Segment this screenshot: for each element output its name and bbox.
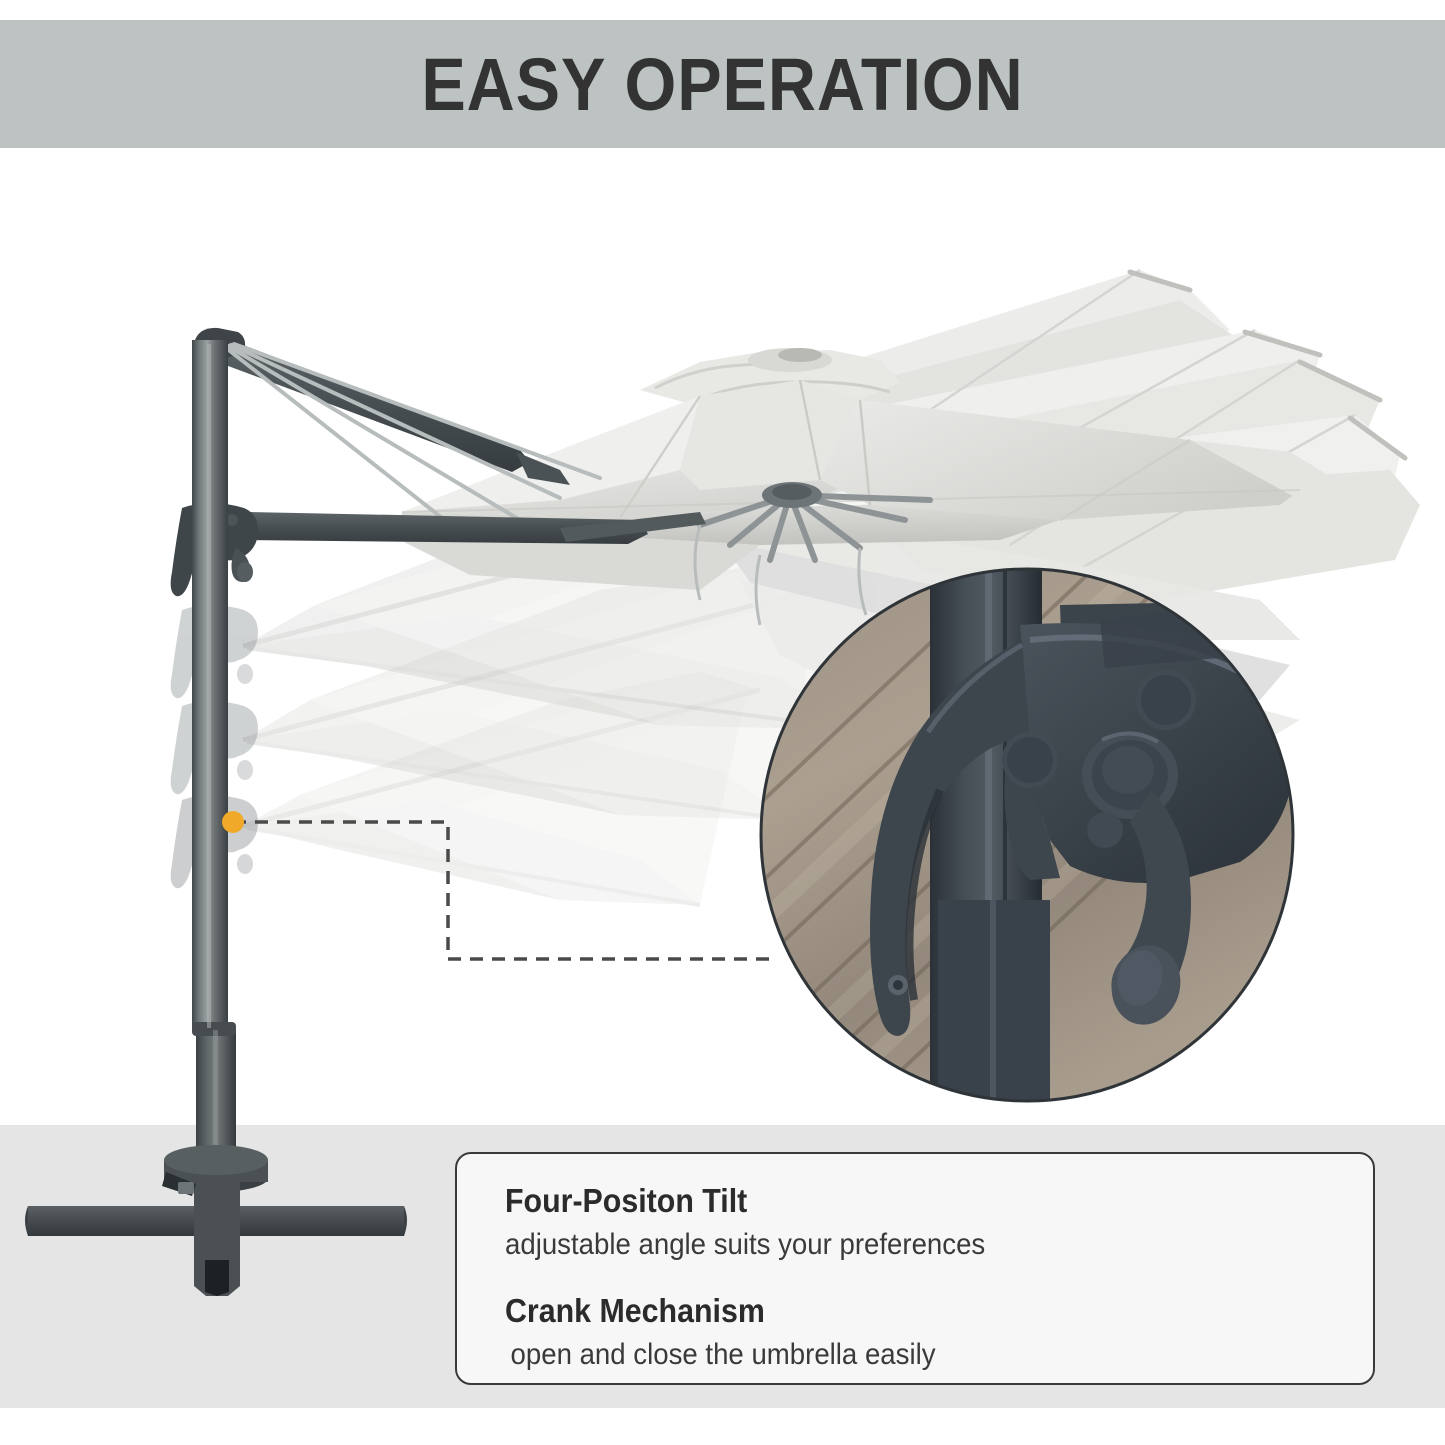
- feature-text-card: Four-Positon Tilt adjustable angle suits…: [455, 1152, 1375, 1385]
- page-title: EASY OPERATION: [72, 20, 1373, 148]
- callout-marker-dot: [222, 811, 244, 833]
- ghost-tilt-handle-2: [171, 605, 258, 698]
- feature-title-tilt: Four-Positon Tilt: [505, 1182, 1304, 1220]
- detail-circle-tilt-mechanism: [700, 200, 1400, 1260]
- canopy-rib-hub: [695, 482, 930, 625]
- canopy-fan-lower: [700, 500, 1300, 750]
- ghost-tilt-handle-3: [171, 701, 258, 794]
- feature-block-crank: Crank Mechanism open and close the umbre…: [505, 1292, 1373, 1372]
- umbrella-pole: [192, 340, 236, 1204]
- tilt-handle-active: [171, 503, 258, 596]
- callout-dashed-line: [233, 822, 770, 959]
- feature-subtitle-tilt: adjustable angle suits your preferences: [505, 1228, 1304, 1262]
- canopy-fan-positions: [790, 270, 1420, 610]
- ghost-tilt-position-3: [243, 565, 830, 820]
- main-canopy: [400, 348, 1345, 590]
- feature-block-tilt: Four-Positon Tilt adjustable angle suits…: [505, 1182, 1373, 1262]
- infographic-stage: EASY OPERATION: [0, 0, 1445, 1445]
- feature-subtitle-crank: open and close the umbrella easily: [505, 1338, 1304, 1372]
- feature-title-crank: Crank Mechanism: [505, 1292, 1304, 1330]
- cantilever-arm-assembly: [195, 328, 706, 544]
- ghost-tilt-position-4: [243, 672, 760, 905]
- ghost-tilt-handle-4: [171, 795, 258, 888]
- ghost-tilt-position-2: [243, 452, 905, 730]
